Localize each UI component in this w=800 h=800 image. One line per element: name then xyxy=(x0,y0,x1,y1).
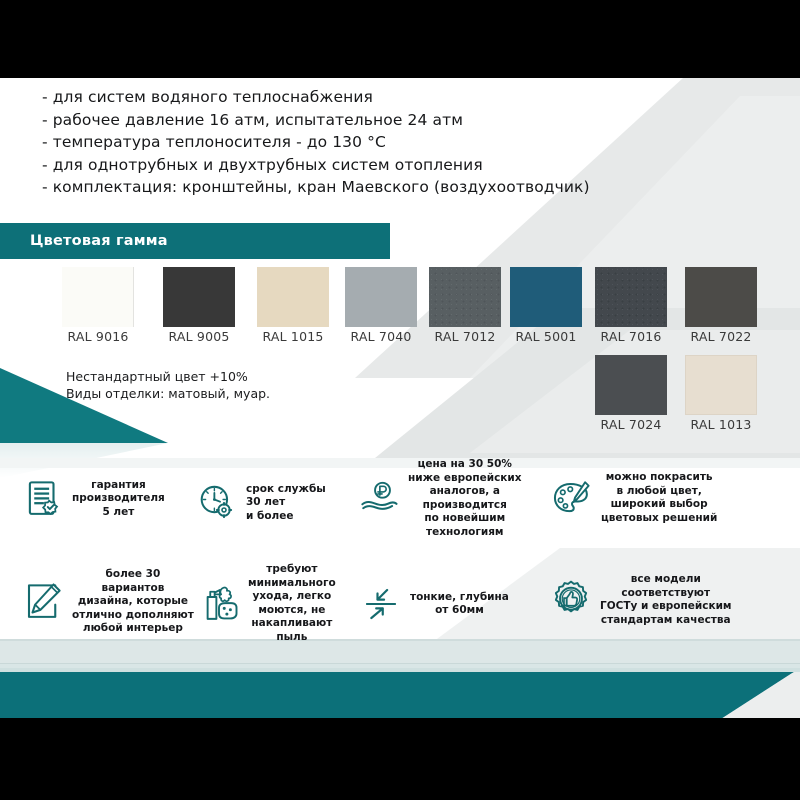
feature-line: ГОСТу и европейским xyxy=(600,600,732,614)
quality-thumb-icon xyxy=(550,579,592,621)
swatch-label: RAL 7022 xyxy=(690,329,751,344)
feature-line: широкий выбор xyxy=(601,498,717,512)
swatch-ral-7016[interactable]: RAL 7016 xyxy=(595,267,667,327)
feature-text: требуют минимального ухода, легко моются… xyxy=(248,563,336,644)
swatch-chip xyxy=(163,267,235,327)
feature-quality-standards: все модели соответствуют ГОСТу и европей… xyxy=(550,573,765,627)
feature-line: дизайна, которые xyxy=(72,595,194,609)
feature-line: и более xyxy=(246,510,326,524)
swatch-label: RAL 7012 xyxy=(434,329,495,344)
clock-gear-icon xyxy=(196,482,238,524)
swatch-label: RAL 7024 xyxy=(600,417,661,432)
swatch-chip xyxy=(510,267,582,327)
feature-design-variants: более 30 вариантов дизайна, которые отли… xyxy=(22,568,197,636)
feature-text: более 30 вариантов дизайна, которые отли… xyxy=(72,568,194,636)
swatch-chip xyxy=(345,267,417,327)
feature-line: производится xyxy=(408,499,522,513)
spec-line: - температура теплоносителя - до 130 °C xyxy=(42,131,662,154)
feature-line: все модели xyxy=(600,573,732,587)
swatch-label: RAL 1015 xyxy=(262,329,323,344)
feature-line: вариантов xyxy=(72,582,194,596)
feature-line: по новейшим xyxy=(408,512,522,526)
spec-line: - для систем водяного теплоснабжения xyxy=(42,86,662,109)
feature-line: технологиям xyxy=(408,526,522,540)
feature-text: цена на 30 50% ниже европейских аналогов… xyxy=(408,458,522,539)
feature-text: гарантия производителя 5 лет xyxy=(72,479,165,520)
feature-line: моются, не xyxy=(248,604,336,618)
swatch-ral-5001[interactable]: RAL 5001 xyxy=(510,267,582,327)
feature-minimal-care: требуют минимального ухода, легко моются… xyxy=(198,563,358,644)
note-line: Виды отделки: матовый, муар. xyxy=(66,385,270,402)
feature-line: накапливают xyxy=(248,617,336,631)
feature-warranty: гарантия производителя 5 лет xyxy=(22,478,182,520)
feature-service-life: срок службы 30 лет и более xyxy=(196,482,356,524)
swatch-label: RAL 9016 xyxy=(67,329,128,344)
palette-brush-icon xyxy=(551,477,593,519)
feature-line: любой интерьер xyxy=(72,622,194,636)
feature-line: тонкие, глубина xyxy=(410,591,509,605)
feature-line: цветовых решений xyxy=(601,512,717,526)
section-title: Цветовая гамма xyxy=(30,233,168,249)
swatch-chip xyxy=(595,267,667,327)
spec-line: - рабочее давление 16 атм, испытательное… xyxy=(42,109,662,132)
slide-canvas: - для систем водяного теплоснабжения - р… xyxy=(0,0,800,800)
feature-line: соответствуют xyxy=(600,587,732,601)
feature-price: цена на 30 50% ниже европейских аналогов… xyxy=(358,458,548,539)
swatch-label: RAL 7016 xyxy=(600,329,661,344)
swatch-chip xyxy=(257,267,329,327)
swatch-chip xyxy=(685,355,757,415)
feature-line: стандартам качества xyxy=(600,614,732,628)
swatch-chip xyxy=(62,267,134,327)
spec-line: - для однотрубных и двухтрубных систем о… xyxy=(42,154,662,177)
feature-text: тонкие, глубина от 60мм xyxy=(410,591,509,618)
swatch-label: RAL 5001 xyxy=(515,329,576,344)
spray-sponge-icon xyxy=(198,583,240,625)
note-line: Нестандартный цвет +10% xyxy=(66,368,270,385)
feature-paintable: можно покрасить в любой цвет, широкий вы… xyxy=(551,471,731,525)
swatch-ral-1013[interactable]: RAL 1013 xyxy=(685,355,757,415)
slide-body: - для систем водяного теплоснабжения - р… xyxy=(0,78,800,718)
feature-line: ниже европейских xyxy=(408,472,522,486)
pencil-design-icon xyxy=(22,581,64,623)
feature-line: отлично дополняют xyxy=(72,609,194,623)
feature-line: более 30 xyxy=(72,568,194,582)
swatch-ral-1015[interactable]: RAL 1015 xyxy=(257,267,329,327)
feature-line: в любой цвет, xyxy=(601,485,717,499)
swatch-chip xyxy=(685,267,757,327)
feature-line: можно покрасить xyxy=(601,471,717,485)
feature-text: срок службы 30 лет и более xyxy=(246,483,326,524)
swatch-label: RAL 7040 xyxy=(350,329,411,344)
spec-list: - для систем водяного теплоснабжения - р… xyxy=(42,86,662,199)
swatch-ral-7022[interactable]: RAL 7022 xyxy=(685,267,757,327)
swatch-ral-7040[interactable]: RAL 7040 xyxy=(345,267,417,327)
feature-line: гарантия xyxy=(72,479,165,493)
feature-line: 5 лет xyxy=(72,506,165,520)
swatch-chip xyxy=(429,267,501,327)
feature-line: требуют xyxy=(248,563,336,577)
feature-line: от 60мм xyxy=(410,604,509,618)
feature-line: минимального xyxy=(248,577,336,591)
swatch-label: RAL 9005 xyxy=(168,329,229,344)
feature-line: цена на 30 50% xyxy=(408,458,522,472)
swatch-ral-9016[interactable]: RAL 9016 xyxy=(62,267,134,327)
swatch-ral-7012[interactable]: RAL 7012 xyxy=(429,267,501,327)
hand-ruble-icon xyxy=(358,478,400,520)
swatch-chip xyxy=(595,355,667,415)
feature-line: срок службы xyxy=(246,483,326,497)
color-notes: Нестандартный цвет +10% Виды отделки: ма… xyxy=(66,368,270,402)
feature-thin-depth: тонкие, глубина от 60мм xyxy=(360,583,525,625)
depth-arrows-icon xyxy=(360,583,402,625)
swatch-label: RAL 1013 xyxy=(690,417,751,432)
feature-line: производителя xyxy=(72,492,165,506)
feature-line: пыль xyxy=(248,631,336,645)
color-gamma-header: Цветовая гамма xyxy=(0,223,390,259)
feature-line: 30 лет xyxy=(246,496,326,510)
feature-line: ухода, легко xyxy=(248,590,336,604)
feature-text: все модели соответствуют ГОСТу и европей… xyxy=(600,573,732,627)
feature-line: аналогов, а xyxy=(408,485,522,499)
feature-text: можно покрасить в любой цвет, широкий вы… xyxy=(601,471,717,525)
swatch-ral-7024[interactable]: RAL 7024 xyxy=(595,355,667,415)
certificate-icon xyxy=(22,478,64,520)
swatch-ral-9005[interactable]: RAL 9005 xyxy=(163,267,235,327)
spec-line: - комплектация: кронштейны, кран Маевско… xyxy=(42,176,662,199)
